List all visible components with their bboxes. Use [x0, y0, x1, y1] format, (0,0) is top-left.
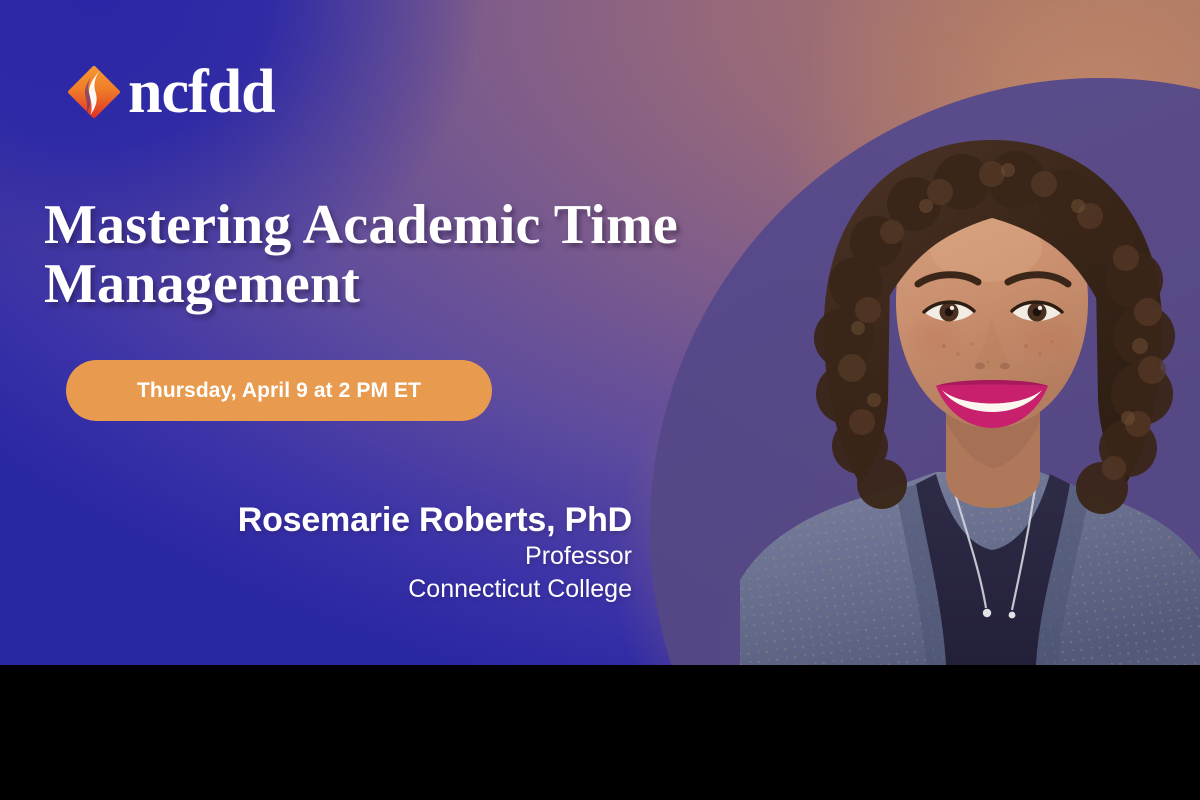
date-time-badge[interactable]: Thursday, April 9 at 2 PM ET [66, 360, 492, 421]
ncfdd-diamond-flame-icon [66, 64, 122, 120]
speaker-organization: Connecticut College [120, 573, 632, 606]
speaker-photo [740, 132, 1200, 665]
date-time-label: Thursday, April 9 at 2 PM ET [137, 379, 421, 403]
speaker-name: Rosemarie Roberts, PhD [120, 500, 632, 540]
speaker-title: Professor [120, 540, 632, 573]
headline-title: Mastering Academic Time Management [44, 196, 764, 315]
webinar-promo-graphic: ncfdd Mastering Academic Time Management… [0, 0, 1200, 800]
speaker-block: Rosemarie Roberts, PhD Professor Connect… [120, 500, 632, 605]
artboard: ncfdd Mastering Academic Time Management… [0, 0, 1200, 665]
speaker-portrait-illustration [740, 132, 1200, 665]
ncfdd-wordmark: ncfdd [128, 67, 275, 118]
bottom-letterbox-bar [0, 665, 1200, 800]
ncfdd-logo[interactable]: ncfdd [66, 64, 275, 120]
